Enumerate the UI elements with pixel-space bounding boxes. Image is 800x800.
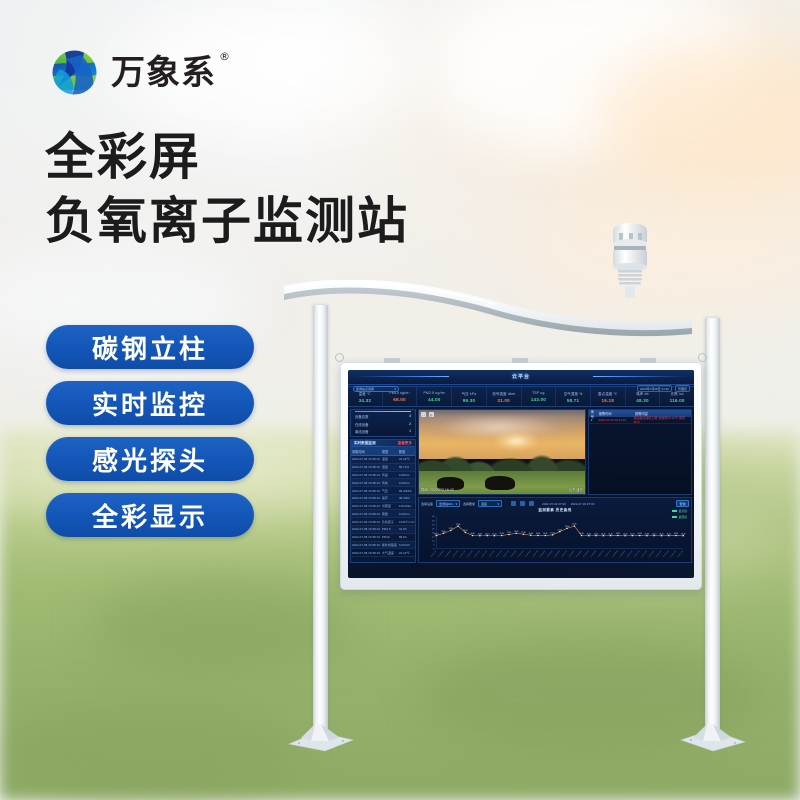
metric-4: 信号强度 dbm 31.00 xyxy=(487,387,522,406)
chart-point-label: 16.00 xyxy=(601,533,605,535)
x-tick-label: 07-03 05:00 xyxy=(590,550,597,557)
metric-label: 空气湿度 % xyxy=(564,391,583,396)
x-tick-label: 07-02 20:00 xyxy=(525,550,532,557)
cell-value: 68.00 xyxy=(398,533,416,541)
cell-type: 雨量 xyxy=(381,510,398,518)
device-status-row-1: 在线设备 2 xyxy=(355,422,411,427)
x-tick-label: 07-02 16:00 xyxy=(496,550,503,557)
x-tick-label: 07-02 21:00 xyxy=(532,550,539,557)
x-tick-label: 07-03 02:00 xyxy=(568,550,575,557)
x-tick-label: 07-03 10:00 xyxy=(627,550,634,557)
feature-badge-3: 全彩显示 xyxy=(46,493,254,537)
chart-point-label: 27.80 xyxy=(456,524,460,526)
col-type: 类型 xyxy=(381,447,398,456)
y-tick-label: 40 xyxy=(432,516,434,518)
cell-type: 大气温度 xyxy=(381,549,398,557)
alarm-index: 1 xyxy=(591,418,596,422)
station-select[interactable]: 监测站点选择 ▾ xyxy=(353,386,399,392)
x-tick-label: 07-02 18:00 xyxy=(510,550,517,557)
video-tools: ⛶ ◎ xyxy=(421,412,434,417)
cell-type: 负氧离子 xyxy=(381,518,398,526)
metric-value: 44.00 xyxy=(428,397,441,402)
realtime-data-table: 采集时间 类型 数值 2022-07-08 15:38:19温度34.32℃20… xyxy=(351,447,415,557)
chart-point-label: 16.10 xyxy=(594,533,598,535)
video-location-label: 山东 潍坊 xyxy=(569,487,583,492)
cell-time: 2022-07-08 15:38:19 xyxy=(351,456,381,464)
x-tick-label: 07-02 13:00 xyxy=(474,550,481,557)
main-column: ⛶ ◎ 时间: 2022/7/3 16:42 山东 潍坊 序号 报警时间 报警内… xyxy=(418,407,694,565)
chart-point-label: 16.20 xyxy=(543,533,547,535)
x-tick-label: 07-02 11:00 xyxy=(460,550,467,557)
chart-point-label: 16.00 xyxy=(478,533,482,535)
metric-value: 116.00 xyxy=(670,398,685,403)
week-icon[interactable] xyxy=(520,501,525,506)
fullscreen-icon[interactable]: ⛶ xyxy=(421,412,426,417)
cell-type: 风向 xyxy=(381,479,398,487)
cabinet-hook-left xyxy=(335,353,344,362)
chart-point-label: 16.60 xyxy=(529,533,533,535)
cell-type: 噪声 xyxy=(381,494,398,502)
factor-select[interactable]: 温度 ▾ xyxy=(478,500,502,507)
alarm-col-time: 报警时间 xyxy=(599,411,632,416)
chart-plot-area: 403530252015105016.1007-02 07:0019.0007-… xyxy=(421,513,689,560)
chart-point-label: 20.00 xyxy=(463,530,467,532)
y-tick-label: 35 xyxy=(432,520,434,522)
metric-7: 露点温度 ℃ 16.18 xyxy=(591,387,626,406)
cell-value: 58.71% xyxy=(398,463,416,471)
x-tick-label: 07-03 17:00 xyxy=(677,550,684,557)
cell-type: 温度 xyxy=(381,456,398,464)
table-row[interactable]: 2022-07-08 15:38:19PM2.544.00 xyxy=(351,526,415,534)
history-chart-panel: 选择设备 监测站001 ▾ 选择要素 温度 ▾ xyxy=(418,497,692,563)
cell-value: 48.30db xyxy=(398,494,416,502)
chart-point-label: 16.10 xyxy=(652,533,656,535)
feature-badge-list: 碳钢立柱 实时监控 感光探头 全彩显示 xyxy=(46,325,254,537)
chart-point-label: 21.00 xyxy=(558,529,562,531)
chart-toolbar: 选择设备 监测站001 ▾ 选择要素 温度 ▾ xyxy=(421,500,689,507)
chart-point-label: 16.00 xyxy=(681,533,685,535)
chart-point-label: 16.20 xyxy=(579,533,583,535)
factor-select-value: 温度 xyxy=(481,502,487,506)
x-tick-label: 07-03 14:00 xyxy=(656,550,663,557)
x-tick-label: 07-02 17:00 xyxy=(503,550,510,557)
chart-point-label: 16.20 xyxy=(674,533,678,535)
device-select-value: 监测站001 xyxy=(439,502,453,506)
metric-label: 露点温度 ℃ xyxy=(598,391,618,396)
x-tick-label: 07-02 08:00 xyxy=(438,550,445,557)
station-select-value: 监测站点选择 xyxy=(356,387,374,391)
x-tick-label: 07-03 09:00 xyxy=(619,550,626,557)
metric-label: TSP ug xyxy=(532,391,544,395)
cell-value: 99.30kPa xyxy=(398,487,416,495)
x-tick-label: 07-02 12:00 xyxy=(467,550,474,557)
col-value: 数值 xyxy=(398,447,416,456)
date-range[interactable]: 2022-07-02 07:00 2022-07-03 07:00 xyxy=(542,502,594,506)
table-row[interactable]: 2022-07-08 15:38:19大气温度34.32℃ xyxy=(351,549,415,557)
led-dashboard-screen[interactable]: 云平台 监测站点选择 ▾ 2022年7月08日 14:32 管理员 温度 ℃ 3… xyxy=(348,370,694,578)
headline-block: 全彩屏 负氧离子监测站 xyxy=(45,125,409,253)
x-tick-label: 07-03 06:00 xyxy=(598,550,605,557)
brand-logo: 万象系® xyxy=(47,45,216,100)
date-start: 2022-07-02 07:00 xyxy=(542,502,566,506)
metric-2: PM2.5 ug/m³ 44.00 xyxy=(417,387,452,406)
y-tick-label: 5 xyxy=(433,545,434,547)
table-row[interactable]: 2022-07-08 15:38:19噪声48.30db xyxy=(351,494,415,502)
alarm-time: 2022-07-03 16:11:23 xyxy=(598,418,630,422)
table-row[interactable]: 2022-07-08 15:38:19光照度116.00lux xyxy=(351,502,415,510)
x-tick-label: 07-03 07:00 xyxy=(605,550,612,557)
header-right-info: 2022年7月08日 14:32 管理员 xyxy=(637,385,690,392)
feature-badge-1: 实时监控 xyxy=(46,381,254,425)
x-tick-label: 07-02 23:00 xyxy=(547,550,554,557)
chart-point-label: 16.20 xyxy=(616,533,620,535)
x-tick-label: 07-03 08:00 xyxy=(612,550,619,557)
metric-value: 48.30 xyxy=(636,398,649,403)
month-icon[interactable] xyxy=(529,501,534,506)
chart-point-label: 27.90 xyxy=(572,524,576,526)
device-status-row-0: 设备总数 3 xyxy=(355,414,411,419)
chart-point-label: 16.00 xyxy=(587,533,591,535)
device-status-panel: 设备总数 3 在线设备 2 离线设备 1 xyxy=(350,409,416,437)
chart-point-label: 16.10 xyxy=(630,533,634,535)
table-row[interactable]: 2022-07-08 15:38:19风速0.08m/s xyxy=(351,471,415,479)
chart-point-label: 17.80 xyxy=(521,532,525,534)
range-icon-group xyxy=(511,501,534,506)
table-row[interactable]: 2022-07-08 15:38:19温度34.32℃ xyxy=(351,456,415,464)
metric-value: 31.00 xyxy=(497,398,510,403)
metric-value: 16.18 xyxy=(602,398,615,403)
x-tick-label: 07-02 14:00 xyxy=(481,550,488,557)
globe-swirl-logo-icon xyxy=(47,45,102,100)
chart-point-label: 19.00 xyxy=(441,531,445,533)
realtime-data-panel: 实时数据监测 查看更多 采集时间 类型 数值 2022-07-08 15:38:… xyxy=(350,439,416,563)
feature-badge-0: 碳钢立柱 xyxy=(46,325,254,369)
cell-time: 2022-07-08 15:38:19 xyxy=(351,533,381,541)
dashboard-body: 设备总数 3 在线设备 2 离线设备 1 xyxy=(348,407,694,565)
alarm-row-0[interactable]: 1 2022-07-03 16:11:23 温度超过阈值上限 当前值34.32℃… xyxy=(589,417,691,424)
headline-line-1: 全彩屏 xyxy=(45,125,409,189)
day-icon[interactable] xyxy=(511,501,516,506)
chart-point-label: 16.00 xyxy=(492,533,496,535)
cell-time: 2022-07-08 15:38:19 xyxy=(351,518,381,526)
date-end: 2022-07-03 07:00 xyxy=(571,502,595,506)
cell-type: PM10 xyxy=(381,533,398,541)
snapshot-icon[interactable]: ◎ xyxy=(429,412,434,417)
table-header-row: 采集时间 类型 数值 xyxy=(351,447,415,456)
cell-time: 2022-07-08 15:38:19 xyxy=(351,541,381,549)
y-tick-label: 15 xyxy=(432,537,434,539)
legend-swatch xyxy=(672,510,677,512)
chart-point-label: 16.10 xyxy=(608,533,612,535)
cell-value: 44.00 xyxy=(398,526,416,534)
dashboard-title: 云平台 xyxy=(348,373,694,380)
brand-name-text: 万象系® xyxy=(111,56,216,90)
stat-label: 离线设备 xyxy=(355,429,369,434)
cell-value: 0.00mm xyxy=(398,510,416,518)
col-time: 采集时间 xyxy=(351,447,381,456)
chart-point-label: 16.10 xyxy=(485,533,489,535)
x-tick-label: 07-02 15:00 xyxy=(489,550,496,557)
cabinet-hook-right xyxy=(698,353,707,362)
realtime-data-body: 2022-07-08 15:38:19温度34.32℃2022-07-08 15… xyxy=(351,456,415,557)
x-tick-label: 07-03 16:00 xyxy=(670,550,677,557)
cabinet-tab xyxy=(512,358,528,363)
history-line-chart: 403530252015105016.1007-02 07:0019.0007-… xyxy=(421,513,689,560)
device-select-label: 选择设备 xyxy=(421,502,433,506)
metric-label: 信号强度 dbm xyxy=(492,391,515,396)
stat-value: 1 xyxy=(409,429,411,434)
chevron-down-icon: ▾ xyxy=(498,502,500,506)
cell-value: 0.00UVI xyxy=(398,541,416,549)
chart-point-label: 16.30 xyxy=(536,533,540,535)
x-tick-label: 07-03 01:00 xyxy=(561,550,568,557)
cabinet-tab xyxy=(640,358,656,363)
cell-type: 气压 xyxy=(381,487,398,495)
dashboard-header: 云平台 xyxy=(348,370,694,385)
y-tick-label: 25 xyxy=(432,528,434,530)
cell-time: 2022-07-08 15:38:19 xyxy=(351,487,381,495)
alarm-panel: 序号 报警时间 报警内容 1 2022-07-03 16:11:23 温度超过阈… xyxy=(588,409,692,495)
headline-line-2: 负氧离子监测站 xyxy=(45,189,409,253)
panel-title-text: 实时数据监测 xyxy=(354,441,376,446)
table-row[interactable]: 2022-07-08 15:38:19风向0.00m/s xyxy=(351,479,415,487)
x-tick-label: 07-02 22:00 xyxy=(539,550,546,557)
cell-value: 34.32℃ xyxy=(398,549,416,557)
y-tick-label: 10 xyxy=(432,541,434,543)
cell-value: 0.08m/s xyxy=(398,471,416,479)
x-tick-label: 07-03 12:00 xyxy=(641,550,648,557)
chevron-down-icon: ▾ xyxy=(394,387,396,391)
cell-time: 2022-07-08 15:38:19 xyxy=(351,510,381,518)
query-button[interactable]: 查询 xyxy=(676,500,689,507)
table-row[interactable]: 2022-07-08 15:38:19负氧离子1430个/cm³ xyxy=(351,518,415,526)
chart-point-label: 17.50 xyxy=(507,532,511,534)
chart-point-label: 16.20 xyxy=(638,533,642,535)
chart-point-label: 19.00 xyxy=(514,531,518,533)
x-tick-label: 07-03 15:00 xyxy=(663,550,670,557)
chart-point-label: 17.00 xyxy=(550,533,554,535)
metric-label: 气压 kPa xyxy=(462,391,477,396)
device-select[interactable]: 监测站001 ▾ xyxy=(436,500,460,507)
metric-value: 143.00 xyxy=(531,397,546,402)
table-row[interactable]: 2022-07-08 15:38:19PM1068.00 xyxy=(351,533,415,541)
cell-time: 2022-07-08 15:38:19 xyxy=(351,494,381,502)
device-status-row-2: 离线设备 1 xyxy=(355,429,411,434)
x-tick-label: 07-02 07:00 xyxy=(430,550,437,557)
video-cow xyxy=(485,476,515,489)
cell-time: 2022-07-08 15:38:19 xyxy=(351,471,381,479)
cell-value: 34.32℃ xyxy=(398,456,416,464)
left-sidebar: 设备总数 3 在线设备 2 离线设备 1 xyxy=(348,407,418,565)
cell-time: 2022-07-08 15:38:19 xyxy=(351,549,381,557)
y-tick-label: 30 xyxy=(432,524,434,526)
cell-type: 湿度 xyxy=(381,463,398,471)
stat-value: 2 xyxy=(409,422,411,427)
chart-point-label: 16.10 xyxy=(434,533,438,535)
cell-type: 紫外线强度 xyxy=(381,541,398,549)
chart-point-label: 22.50 xyxy=(449,528,453,530)
realtime-data-title: 实时数据监测 查看更多 xyxy=(351,440,415,447)
video-and-alarm-row: ⛶ ◎ 时间: 2022/7/3 16:42 山东 潍坊 序号 报警时间 报警内… xyxy=(418,409,692,495)
header-datetime: 2022年7月08日 14:32 xyxy=(637,385,672,392)
metric-value: 99.30 xyxy=(463,398,476,403)
chart-point-label: 16.20 xyxy=(500,533,504,535)
video-scene xyxy=(419,410,585,494)
table-row[interactable]: 2022-07-08 15:38:19湿度58.71% xyxy=(351,463,415,471)
table-row[interactable]: 2022-07-08 15:38:19气压99.30kPa xyxy=(351,487,415,495)
x-tick-label: 07-03 00:00 xyxy=(554,550,561,557)
x-tick-label: 07-02 09:00 xyxy=(445,550,452,557)
cell-type: 光照度 xyxy=(381,502,398,510)
video-treeline xyxy=(419,444,585,474)
video-timestamp: 时间: 2022/7/3 16:42 xyxy=(421,487,454,492)
device-status-rows: 设备总数 3 在线设备 2 离线设备 1 xyxy=(351,412,415,436)
cabinet-tab xyxy=(384,358,400,363)
table-row[interactable]: 2022-07-08 15:38:19雨量0.00mm xyxy=(351,510,415,518)
metric-6: 空气湿度 % 58.71 xyxy=(556,387,591,406)
metric-value: 58.71 xyxy=(567,398,580,403)
metric-5: TSP ug 143.00 xyxy=(522,387,557,406)
x-tick-label: 07-03 11:00 xyxy=(634,550,641,557)
cell-time: 2022-07-08 15:38:19 xyxy=(351,463,381,471)
x-tick-label: 07-02 10:00 xyxy=(452,550,459,557)
factor-select-label: 选择要素 xyxy=(463,502,475,506)
registered-mark: ® xyxy=(219,51,231,62)
display-cabinet: 云平台 监测站点选择 ▾ 2022年7月08日 14:32 管理员 温度 ℃ 3… xyxy=(340,362,702,590)
chevron-down-icon: ▾ xyxy=(456,502,458,506)
stat-label: 在线设备 xyxy=(355,422,369,427)
cell-time: 2022-07-08 15:38:19 xyxy=(351,479,381,487)
y-tick-label: 0 xyxy=(433,549,434,551)
cell-value: 0.00m/s xyxy=(398,479,416,487)
feature-badge-2: 感光探头 xyxy=(46,437,254,481)
stat-label: 设备总数 xyxy=(355,414,369,419)
chart-point-label: 16.10 xyxy=(667,533,671,535)
metric-3: 气压 kPa 99.30 xyxy=(452,387,487,406)
view-more-link[interactable]: 查看更多 xyxy=(398,441,412,446)
stat-value: 3 xyxy=(409,414,411,419)
metric-value: 34.32 xyxy=(359,398,372,403)
metric-label: PM2.5 ug/m³ xyxy=(423,391,445,395)
cell-value: 116.00lux xyxy=(398,502,416,510)
chart-point-label: 16.00 xyxy=(659,533,663,535)
x-tick-label: 07-02 19:00 xyxy=(518,550,525,557)
cell-time: 2022-07-08 15:38:19 xyxy=(351,526,381,534)
chart-point-label: 16.00 xyxy=(645,533,649,535)
video-feed[interactable]: ⛶ ◎ 时间: 2022/7/3 16:42 山东 潍坊 xyxy=(418,409,586,495)
x-tick-label: 07-03 13:00 xyxy=(648,550,655,557)
cell-time: 2022-07-08 15:38:19 xyxy=(351,502,381,510)
chart-point-label: 16.20 xyxy=(470,533,474,535)
table-row[interactable]: 2022-07-08 15:38:19紫外线强度0.00UVI xyxy=(351,541,415,549)
x-tick-label: 07-03 03:00 xyxy=(576,550,583,557)
cell-type: 风速 xyxy=(381,471,398,479)
cell-value: 1430个/cm³ xyxy=(398,518,416,526)
header-user[interactable]: 管理员 xyxy=(675,385,690,392)
chart-point-label: 16.00 xyxy=(623,533,627,535)
chart-point-label: 25.00 xyxy=(565,526,569,528)
metric-value: 68.00 xyxy=(393,397,406,402)
cell-type: PM2.5 xyxy=(381,526,398,534)
x-tick-label: 07-03 04:00 xyxy=(583,550,590,557)
alarm-content: 温度超过阈值上限 当前值34.32℃ 阈值30℃ xyxy=(633,416,689,424)
